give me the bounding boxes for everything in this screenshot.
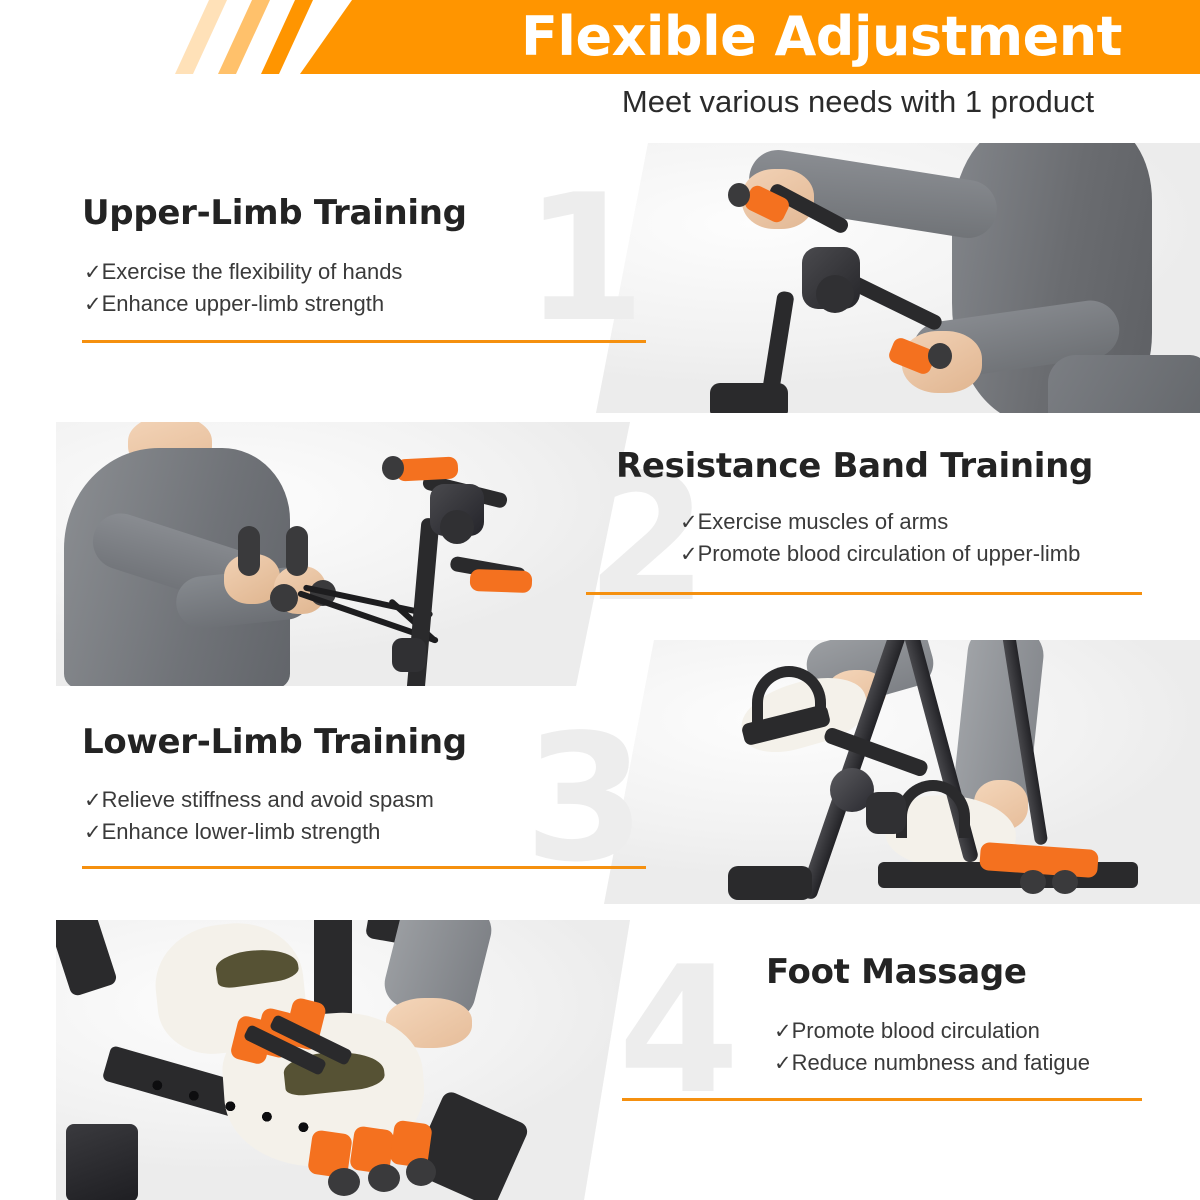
- bullet-text: Enhance upper-limb strength: [102, 291, 385, 316]
- check-icon: ✓: [774, 1052, 792, 1075]
- banner-subtitle: Meet various needs with 1 product: [586, 84, 1130, 120]
- photo-grip-cap-upper: [728, 183, 750, 207]
- photo-frame-joint: [392, 638, 426, 672]
- feature-image-upper-limb: [560, 143, 1200, 413]
- photo-band-knot-left: [270, 584, 298, 612]
- banner-stripe-1: [175, 0, 227, 74]
- section-rule-1: [82, 340, 646, 343]
- banner-stripe-2: [218, 0, 270, 74]
- photo-roller-cap-4: [328, 1168, 360, 1196]
- photo-base-pad: [66, 1124, 138, 1200]
- check-icon: ✓: [680, 511, 698, 534]
- section-bullets-foot-massage: ✓Promote blood circulation ✓Reduce numbn…: [774, 1015, 1090, 1079]
- photo-base-foot-left: [728, 866, 812, 900]
- step-number-4: 4: [618, 944, 740, 1119]
- step-number-3: 3: [524, 712, 646, 887]
- section-rule-2: [586, 592, 1142, 595]
- check-icon: ✓: [84, 789, 102, 812]
- check-icon: ✓: [774, 1020, 792, 1043]
- bullet-text: Exercise muscles of arms: [698, 509, 949, 534]
- banner-stripe-3: [261, 0, 313, 74]
- section-bullets-resistance-band: ✓Exercise muscles of arms ✓Promote blood…: [680, 506, 1080, 570]
- bullet-text: Exercise the flexibility of hands: [102, 259, 403, 284]
- photo-roller-cap-upper: [382, 456, 404, 480]
- section-bullets-upper-limb: ✓Exercise the flexibility of hands ✓Enha…: [84, 256, 402, 320]
- feature-image-resistance-band: [56, 422, 630, 686]
- bullet-text: Enhance lower-limb strength: [102, 819, 381, 844]
- photo-band-handle-right: [286, 526, 308, 576]
- bullet-text: Relieve stiffness and avoid spasm: [102, 787, 434, 812]
- photo-roller-cap-2: [1052, 870, 1078, 894]
- feature-image-lower-limb: [600, 640, 1200, 904]
- section-title-lower-limb: Lower-Limb Training: [82, 722, 467, 762]
- photo-crank-joint: [866, 792, 906, 834]
- photo-pedal: [710, 383, 788, 413]
- check-icon: ✓: [680, 543, 698, 566]
- photo-roller-cap-5: [368, 1164, 400, 1192]
- header-banner: Flexible Adjustment: [0, 0, 1200, 74]
- bullet-text: Promote blood circulation: [792, 1018, 1040, 1043]
- section-title-upper-limb: Upper-Limb Training: [82, 193, 467, 233]
- photo-crank-knob: [440, 510, 474, 544]
- banner-title: Flexible Adjustment: [521, 4, 1122, 70]
- photo-hip: [1048, 355, 1200, 413]
- photo-joint-knob: [816, 275, 854, 313]
- bullet-text: Reduce numbness and fatigue: [792, 1050, 1090, 1075]
- section-rule-3: [82, 866, 646, 869]
- photo-grip-roller-upper: [395, 456, 458, 481]
- photo-grip-roller-lower: [470, 569, 533, 593]
- check-icon: ✓: [84, 293, 102, 316]
- feature-image-foot-massage: [56, 920, 630, 1200]
- photo-roller-cap-6: [406, 1158, 436, 1186]
- photo-band-handle-left: [238, 526, 260, 576]
- bullet-text: Promote blood circulation of upper-limb: [698, 541, 1081, 566]
- photo-roller-cap-1: [1020, 870, 1046, 894]
- section-title-resistance-band: Resistance Band Training: [616, 446, 1093, 486]
- check-icon: ✓: [84, 261, 102, 284]
- section-rule-4: [622, 1098, 1142, 1101]
- section-title-foot-massage: Foot Massage: [766, 952, 1027, 992]
- step-number-1: 1: [524, 172, 646, 347]
- section-bullets-lower-limb: ✓Relieve stiffness and avoid spasm ✓Enha…: [84, 784, 434, 848]
- check-icon: ✓: [84, 821, 102, 844]
- photo-grip-cap-lower: [928, 343, 952, 369]
